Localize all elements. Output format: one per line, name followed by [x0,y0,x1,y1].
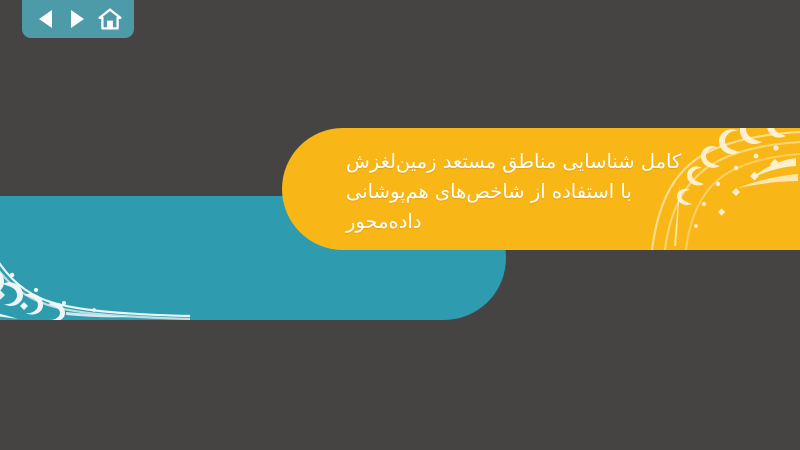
slide-title-line-3: داده‌محور [346,207,422,237]
home-slide-button[interactable] [96,5,124,33]
slide-title-band: کامل شناسایی مناطق مستعد زمین‌لغزش با اس… [282,128,800,250]
arabesque-ornament-top-right-icon [610,128,800,250]
slide-title-line-1: کامل شناسایی مناطق مستعد زمین‌لغزش [346,147,681,177]
slide-navigation-toolbar [22,0,134,38]
triangle-left-icon [39,10,52,28]
next-slide-button[interactable] [64,5,92,33]
arabesque-ornament-bottom-left-icon [0,196,190,320]
previous-slide-button[interactable] [31,5,59,33]
slide-title-line-2: با استفاده از شاخص‌های هم‌پوشانی [346,177,632,207]
home-icon [98,8,122,30]
slide-title: کامل شناسایی مناطق مستعد زمین‌لغزش با اس… [282,128,800,250]
triangle-right-icon [71,10,84,28]
slide-canvas: کامل شناسایی مناطق مستعد زمین‌لغزش با اس… [0,0,800,450]
